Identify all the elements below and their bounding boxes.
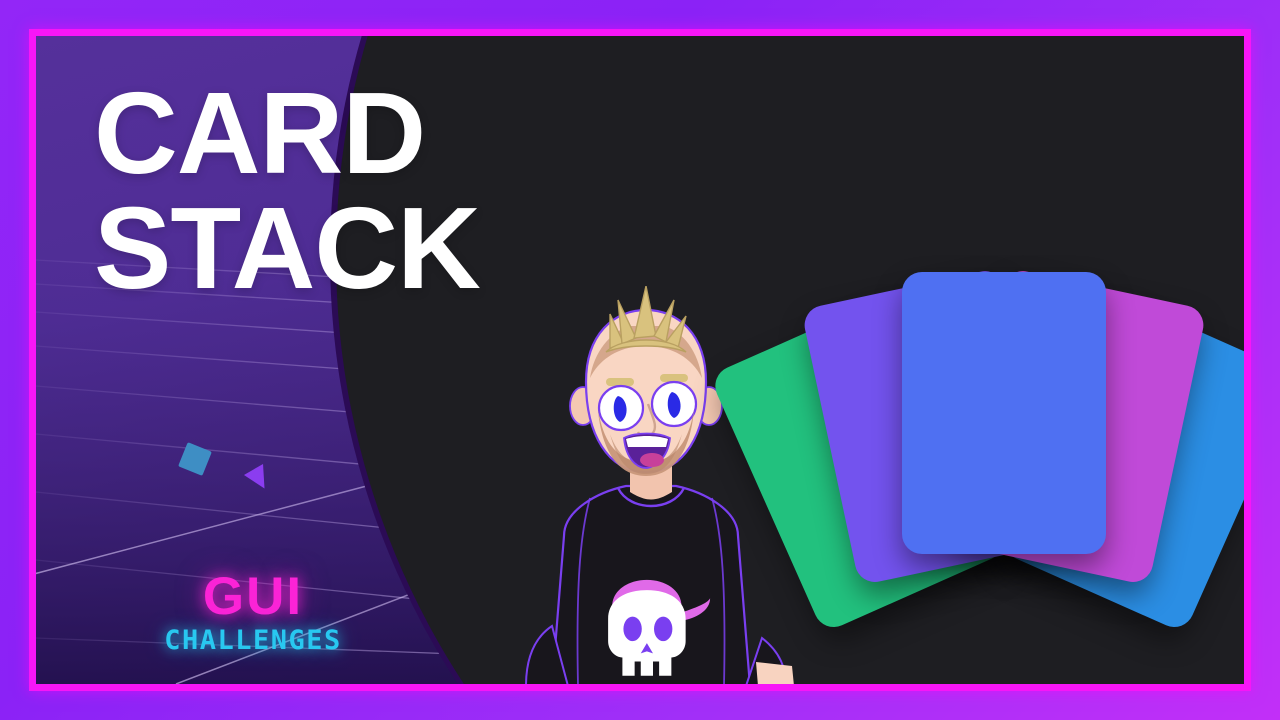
page-title: CARD STACK xyxy=(94,76,480,306)
thumbnail-canvas: CARD STACK GUI CHALLENGES xyxy=(0,0,1280,720)
logo-primary-text: GUI xyxy=(148,570,358,623)
content-area: CARD STACK GUI CHALLENGES xyxy=(36,36,1244,684)
host-avatar xyxy=(506,286,796,684)
gui-challenges-logo: GUI CHALLENGES xyxy=(148,570,358,654)
card-blue-front xyxy=(902,272,1106,554)
logo-secondary-text: CHALLENGES xyxy=(148,627,358,654)
card-stack-illustration xyxy=(752,242,1244,642)
title-text: CARD STACK xyxy=(94,68,480,313)
